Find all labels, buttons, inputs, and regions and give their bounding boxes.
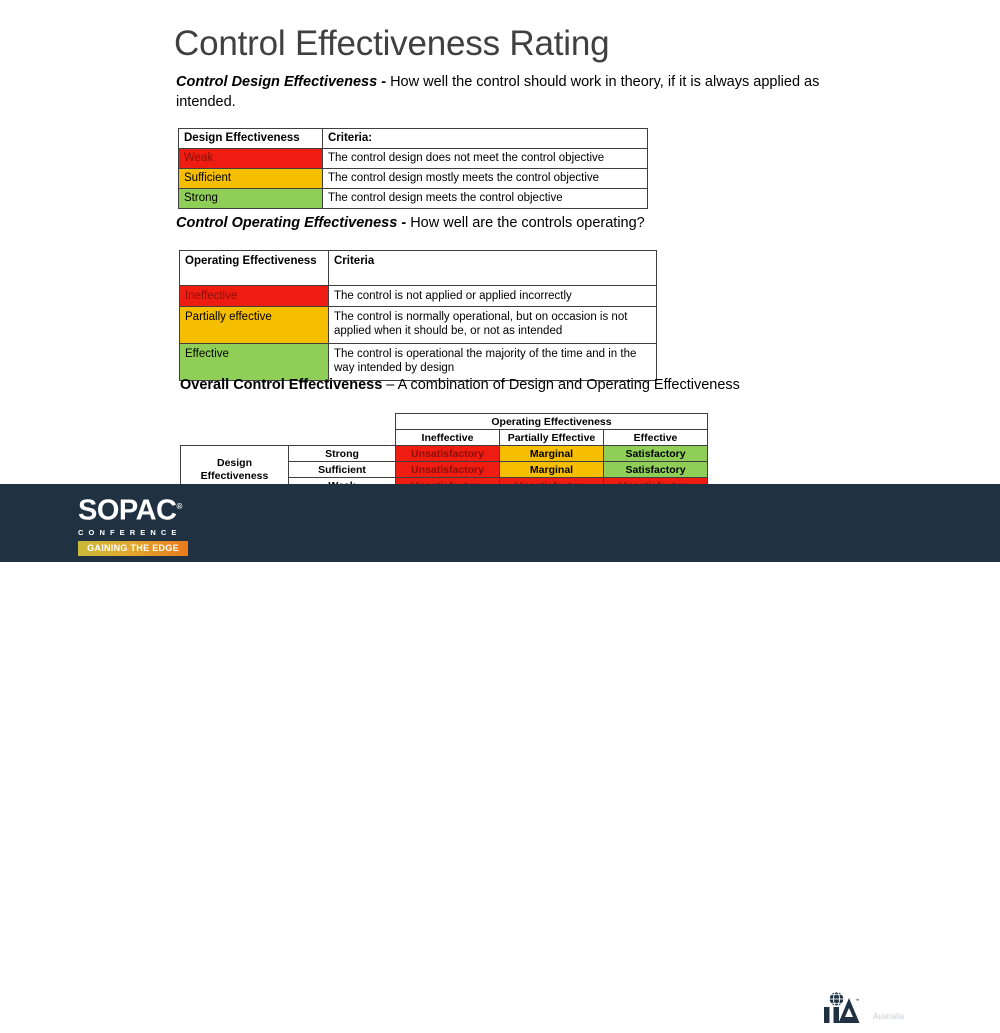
cell-criteria-ineffective: The control is not applied or applied in… bbox=[329, 286, 657, 307]
table-row: Ineffective The control is not applied o… bbox=[180, 286, 657, 307]
cell-criteria-partially-effective: The control is normally operational, but… bbox=[329, 307, 657, 344]
table-row: Weak The control design does not meet th… bbox=[179, 149, 648, 169]
cell-level-strong: Strong bbox=[179, 189, 323, 209]
sopac-tagline: GAINING THE EDGE bbox=[78, 541, 188, 556]
svg-text:™: ™ bbox=[855, 998, 860, 1003]
design-effectiveness-lead-dash: - bbox=[377, 74, 390, 90]
table-row: Sufficient The control design mostly mee… bbox=[179, 169, 648, 189]
matrix-cell-sufficient-partially-effective: Marginal bbox=[500, 462, 604, 478]
matrix-corner-spacer-4 bbox=[289, 430, 396, 446]
column-header-operating-effectiveness: Operating Effectiveness bbox=[180, 251, 329, 286]
operating-effectiveness-lead-label: Control Operating Effectiveness bbox=[176, 215, 397, 231]
overall-effectiveness-lead-label: Overall Control Effectiveness bbox=[180, 377, 382, 393]
slide-footer: SOPAC® CONFERENCE GAINING THE EDGE bbox=[0, 484, 1000, 562]
design-effectiveness-lead: Control Design Effectiveness - How well … bbox=[176, 72, 866, 112]
registered-trademark-icon: ® bbox=[176, 502, 181, 511]
sopac-wordmark-text: SOPAC bbox=[78, 495, 176, 527]
iia-mark-icon: ™ bbox=[818, 982, 864, 1028]
matrix-axis-row: Operating Effectiveness bbox=[181, 414, 708, 430]
matrix-row-strong: Design Effectiveness Strong Unsatisfacto… bbox=[181, 446, 708, 462]
overall-effectiveness-matrix: Operating Effectiveness Ineffective Part… bbox=[180, 413, 708, 494]
sopac-logo: SOPAC® CONFERENCE GAINING THE EDGE bbox=[78, 492, 198, 556]
overall-effectiveness-lead-dash: – bbox=[382, 377, 397, 393]
operating-effectiveness-lead: Control Operating Effectiveness - How we… bbox=[176, 213, 866, 233]
matrix-column-axis-label: Operating Effectiveness bbox=[396, 414, 708, 430]
table-header-row: Design Effectiveness Criteria: bbox=[179, 129, 648, 149]
table-row: Partially effective The control is norma… bbox=[180, 307, 657, 344]
cell-criteria-sufficient: The control design mostly meets the cont… bbox=[323, 169, 648, 189]
matrix-column-header-row: Ineffective Partially Effective Effectiv… bbox=[181, 430, 708, 446]
iia-logo: ™ The Institute of Internal Auditors Aus… bbox=[818, 982, 949, 1028]
matrix-cell-sufficient-effective: Satisfactory bbox=[604, 462, 708, 478]
matrix-column-header-effective: Effective bbox=[604, 430, 708, 446]
iia-line-3: Australia bbox=[873, 1011, 949, 1022]
iia-line-2: Internal Auditors bbox=[873, 999, 949, 1010]
sopac-subtitle: CONFERENCE bbox=[78, 528, 198, 537]
overall-effectiveness-lead: Overall Control Effectiveness – A combin… bbox=[180, 375, 880, 395]
design-effectiveness-lead-label: Control Design Effectiveness bbox=[176, 74, 377, 90]
cell-level-sufficient: Sufficient bbox=[179, 169, 323, 189]
matrix-corner-spacer-1 bbox=[181, 414, 289, 430]
page-title: Control Effectiveness Rating bbox=[174, 24, 609, 64]
operating-effectiveness-lead-dash: - bbox=[397, 215, 410, 231]
matrix-cell-strong-effective: Satisfactory bbox=[604, 446, 708, 462]
overall-effectiveness-lead-text: A combination of Design and Operating Ef… bbox=[398, 377, 740, 393]
cell-level-ineffective: Ineffective bbox=[180, 286, 329, 307]
column-header-criteria: Criteria bbox=[329, 251, 657, 286]
cell-criteria-weak: The control design does not meet the con… bbox=[323, 149, 648, 169]
cell-criteria-strong: The control design meets the control obj… bbox=[323, 189, 648, 209]
cell-level-weak: Weak bbox=[179, 149, 323, 169]
iia-globe-icon: ™ bbox=[818, 982, 864, 1028]
design-effectiveness-table: Design Effectiveness Criteria: Weak The … bbox=[178, 128, 648, 209]
cell-level-partially-effective: Partially effective bbox=[180, 307, 329, 344]
sopac-wordmark: SOPAC® bbox=[78, 492, 182, 526]
matrix-column-header-partially-effective: Partially Effective bbox=[500, 430, 604, 446]
matrix-row-header-strong: Strong bbox=[289, 446, 396, 462]
table-row: Strong The control design meets the cont… bbox=[179, 189, 648, 209]
iia-line-1: The Institute of bbox=[873, 988, 949, 999]
column-header-operating-effectiveness-text: Operating Effectiveness bbox=[185, 255, 317, 267]
operating-effectiveness-lead-text: How well are the controls operating? bbox=[410, 215, 645, 231]
column-header-criteria: Criteria: bbox=[323, 129, 648, 149]
table-header-row: Operating Effectiveness Criteria bbox=[180, 251, 657, 286]
operating-effectiveness-table: Operating Effectiveness Criteria Ineffec… bbox=[179, 250, 657, 381]
matrix-cell-strong-ineffective: Unsatisfactory bbox=[396, 446, 500, 462]
matrix-corner-spacer-3 bbox=[181, 430, 289, 446]
matrix-row-header-sufficient: Sufficient bbox=[289, 462, 396, 478]
matrix-cell-sufficient-ineffective: Unsatisfactory bbox=[396, 462, 500, 478]
iia-wordmark: The Institute of Internal Auditors Austr… bbox=[873, 988, 949, 1022]
matrix-column-header-ineffective: Ineffective bbox=[396, 430, 500, 446]
column-header-design-effectiveness: Design Effectiveness bbox=[179, 129, 323, 149]
matrix-corner-spacer-2 bbox=[289, 414, 396, 430]
matrix-cell-strong-partially-effective: Marginal bbox=[500, 446, 604, 462]
